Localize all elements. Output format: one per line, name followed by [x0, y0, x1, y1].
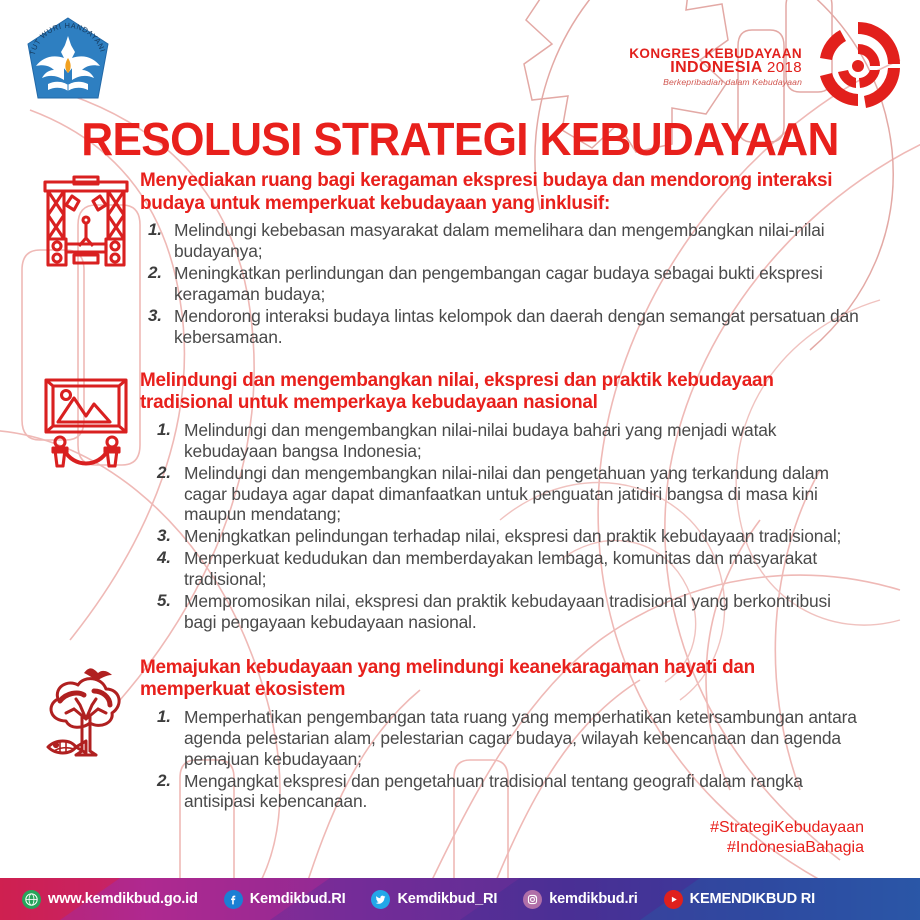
resolution-section: Memajukan kebudayaan yang melindungi kea… [0, 657, 920, 813]
section-items: 1. Melindungi kebebasan masyarakat dalam… [140, 220, 862, 347]
list-item-number: 2. [157, 771, 171, 791]
list-item-text: Meningkatkan pelindungan terhadap nilai,… [184, 526, 862, 547]
list-item: 2. Mengangkat ekspresi dan pengetahuan t… [184, 771, 862, 813]
kongres-kebudayaan-logo: KONGRES KEBUDAYAAN INDONESIA 2018 Berkep… [629, 18, 906, 115]
poster-header: TUT WURI HANDAYANI KONGRES KEBUDAYAAN IN [0, 0, 920, 118]
list-item-number: 1. [148, 220, 162, 240]
poster-canvas: TUT WURI HANDAYANI KONGRES KEBUDAYAAN IN [0, 0, 920, 920]
list-item-number: 5. [157, 591, 171, 611]
list-item-text: Mendorong interaksi budaya lintas kelomp… [174, 306, 862, 348]
list-item-number: 4. [157, 548, 171, 568]
social-media-footer: www.kemdikbud.go.id Kemdikbud.RI Kemdikb… [0, 878, 920, 920]
list-item-text: Melindungi dan mengembangkan nilai-nilai… [184, 463, 862, 526]
facebook-icon [224, 890, 243, 909]
list-item-number: 2. [148, 263, 162, 283]
footer-link-twitter[interactable]: Kemdikbud_RI [371, 890, 497, 909]
list-item: 1. Memperhatikan pengembangan tata ruang… [184, 707, 862, 770]
page-title: RESOLUSI STRATEGI KEBUDAYAAN [18, 112, 901, 166]
list-item: 1. Melindungi kebebasan masyarakat dalam… [174, 220, 862, 262]
list-item-text: Melindungi dan mengembangkan nilai-nilai… [184, 420, 862, 462]
list-item: 2. Melindungi dan mengembangkan nilai-ni… [184, 463, 862, 526]
hashtag-indonesia-bahagia: #IndonesiaBahagia [710, 838, 864, 858]
stage-performance-icon [36, 172, 136, 272]
resolution-section: Melindungi dan mengembangkan nilai, eksp… [0, 370, 920, 633]
youtube-icon [664, 890, 683, 909]
list-item-text: Melindungi kebebasan masyarakat dalam me… [174, 220, 862, 262]
list-item: 5. Mempromosikan nilai, ekspresi dan pra… [184, 591, 862, 633]
tree-ecosystem-icon [36, 659, 136, 759]
footer-link-youtube[interactable]: KEMENDIKBUD RI [664, 890, 815, 909]
footer-label: Kemdikbud_RI [397, 891, 497, 907]
list-item-number: 3. [157, 526, 171, 546]
footer-label: KEMENDIKBUD RI [690, 891, 815, 907]
section-heading: Menyediakan ruang bagi keragaman ekspres… [140, 170, 851, 215]
list-item-text: Memperhatikan pengembangan tata ruang ya… [184, 707, 862, 770]
list-item-number: 1. [157, 420, 171, 440]
list-item: 1. Melindungi dan mengembangkan nilai-ni… [184, 420, 862, 462]
section-items: 1. Melindungi dan mengembangkan nilai-ni… [140, 420, 862, 633]
list-item-text: Mengangkat ekspresi dan pengetahuan trad… [184, 771, 862, 813]
footer-label: kemdikbud.ri [549, 891, 637, 907]
web-icon [22, 890, 41, 909]
list-item-number: 2. [157, 463, 171, 483]
list-item-text: Memperkuat kedudukan dan memberdayakan l… [184, 548, 862, 590]
section-heading: Memajukan kebudayaan yang melindungi kea… [140, 657, 851, 702]
kki-swirl-icon [810, 18, 906, 115]
kki-tagline: Berkepribadian dalam Kebudayaan [629, 78, 802, 87]
kki-line-1: KONGRES KEBUDAYAAN [629, 47, 802, 61]
footer-label: www.kemdikbud.go.id [48, 891, 198, 907]
section-items: 1. Memperhatikan pengembangan tata ruang… [140, 707, 862, 812]
instagram-icon [523, 890, 542, 909]
list-item: 3. Meningkatkan pelindungan terhadap nil… [184, 526, 862, 547]
twitter-icon [371, 890, 390, 909]
kki-year: 2018 [767, 59, 802, 76]
tut-wuri-handayani-logo: TUT WURI HANDAYANI [20, 14, 116, 110]
footer-link-instagram[interactable]: kemdikbud.ri [523, 890, 637, 909]
list-item: 2. Meningkatkan perlindungan dan pengemb… [174, 263, 862, 305]
list-item-text: Mempromosikan nilai, ekspresi dan prakti… [184, 591, 862, 633]
list-item-number: 1. [157, 707, 171, 727]
footer-label: Kemdikbud.RI [250, 891, 346, 907]
resolution-sections: Menyediakan ruang bagi keragaman ekspres… [0, 170, 920, 818]
resolution-section: Menyediakan ruang bagi keragaman ekspres… [0, 170, 920, 348]
list-item: 3. Mendorong interaksi budaya lintas kel… [174, 306, 862, 348]
kki-line-2: INDONESIA [670, 59, 762, 76]
list-item: 4. Memperkuat kedudukan dan memberdayaka… [184, 548, 862, 590]
footer-link-facebook[interactable]: Kemdikbud.RI [224, 890, 346, 909]
museum-painting-icon [36, 372, 136, 472]
section-heading: Melindungi dan mengembangkan nilai, eksp… [140, 370, 851, 415]
list-item-number: 3. [148, 306, 162, 326]
list-item-text: Meningkatkan perlindungan dan pengembang… [174, 263, 862, 305]
footer-link-website[interactable]: www.kemdikbud.go.id [22, 890, 198, 909]
hashtag-strategi-kebudayaan: #StrategiKebudayaan [710, 818, 864, 838]
hashtags: #StrategiKebudayaan #IndonesiaBahagia [710, 818, 864, 858]
